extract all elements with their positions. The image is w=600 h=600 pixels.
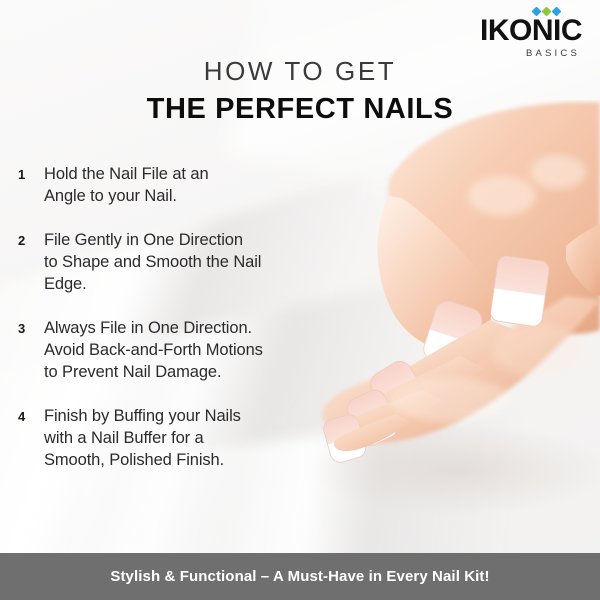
list-item: 3 Always File in One Direction. Avoid Ba… — [18, 317, 348, 383]
step-number: 2 — [18, 229, 44, 252]
step-line: to Shape and Smooth the Nail — [44, 251, 261, 273]
step-line: Smooth, Polished Finish. — [44, 449, 241, 471]
step-line: Edge. — [44, 273, 261, 295]
diamond-icon-3 — [552, 7, 562, 17]
step-number: 4 — [18, 405, 44, 428]
step-line: File Gently in One Direction — [44, 229, 261, 251]
brand-name: IKONIC — [452, 16, 582, 46]
step-line: Finish by Buffing your Nails — [44, 405, 241, 427]
diamond-icon-1 — [532, 7, 542, 17]
step-line: Avoid Back-and-Forth Motions — [44, 339, 263, 361]
step-text: File Gently in One Direction to Shape an… — [44, 229, 261, 295]
page-title-light: HOW TO GET — [0, 58, 600, 85]
diamond-icon-2 — [542, 7, 552, 17]
steps-list: 1 Hold the Nail File at an Angle to your… — [18, 163, 348, 493]
poster-root: IKONIC BASICS HOW TO GET THE PERFECT NAI… — [0, 0, 600, 600]
list-item: 2 File Gently in One Direction to Shape … — [18, 229, 348, 295]
step-text: Finish by Buffing your Nails with a Nail… — [44, 405, 241, 471]
brand-logo: IKONIC BASICS — [452, 6, 582, 59]
logo-diamonds — [533, 8, 560, 15]
bottom-banner: Stylish & Functional – A Must-Have in Ev… — [0, 553, 600, 600]
list-item: 4 Finish by Buffing your Nails with a Na… — [18, 405, 348, 471]
list-item: 1 Hold the Nail File at an Angle to your… — [18, 163, 348, 207]
page-title-bold: THE PERFECT NAILS — [0, 94, 600, 124]
step-line: with a Nail Buffer for a — [44, 427, 241, 449]
step-number: 3 — [18, 317, 44, 340]
step-text: Hold the Nail File at an Angle to your N… — [44, 163, 209, 207]
step-line: Angle to your Nail. — [44, 185, 209, 207]
step-line: Hold the Nail File at an — [44, 163, 209, 185]
step-line: Always File in One Direction. — [44, 317, 263, 339]
step-text: Always File in One Direction. Avoid Back… — [44, 317, 263, 383]
banner-text: Stylish & Functional – A Must-Have in Ev… — [110, 568, 489, 585]
step-line: to Prevent Nail Damage. — [44, 361, 263, 383]
step-number: 1 — [18, 163, 44, 186]
heading-block: HOW TO GET THE PERFECT NAILS — [0, 58, 600, 125]
